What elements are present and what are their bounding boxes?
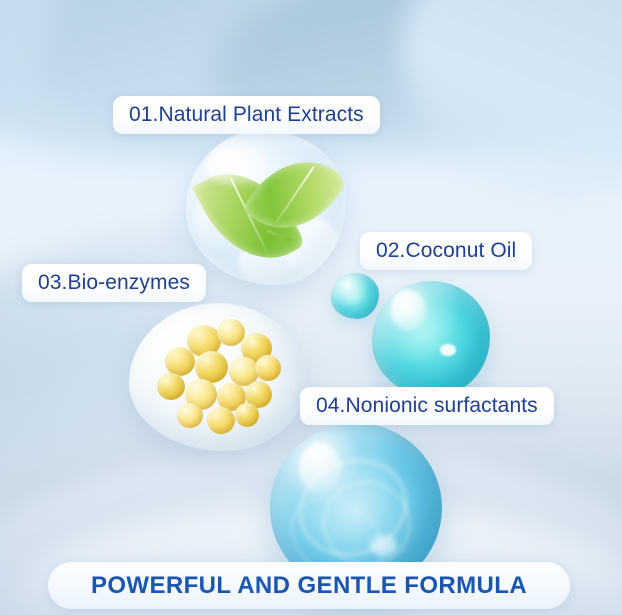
coconut-oil-bead-small <box>331 273 379 319</box>
formula-banner-text: POWERFUL AND GENTLE FORMULA <box>91 572 527 600</box>
sphere-highlight-dot <box>370 535 398 555</box>
enzyme-capsule <box>157 373 185 400</box>
ingredient-label-natural-plant-extracts: 01.Natural Plant Extracts <box>113 96 380 134</box>
enzyme-capsule <box>235 403 259 427</box>
coconut-oil-bead-large <box>372 281 490 397</box>
product-ingredient-poster: 01.Natural Plant Extracts 02.Coconut Oil… <box>0 0 622 615</box>
enzyme-capsule <box>165 347 195 376</box>
enzyme-capsule <box>255 355 281 381</box>
ingredient-label-bio-enzymes: 03.Bio-enzymes <box>22 264 206 302</box>
enzyme-capsule <box>207 407 235 434</box>
ingredient-label-coconut-oil: 02.Coconut Oil <box>360 232 532 270</box>
ingredient-label-nonionic-surfactants: 04.Nonionic surfactants <box>300 387 554 425</box>
enzyme-capsule <box>217 319 245 346</box>
sphere-highlight <box>299 443 340 494</box>
bio-enzymes-bubble <box>129 303 306 451</box>
leaf-vein <box>276 166 315 222</box>
natural-plant-extracts-droplet <box>186 130 346 285</box>
enzyme-capsule <box>177 403 203 428</box>
formula-banner: POWERFUL AND GENTLE FORMULA <box>48 562 570 609</box>
